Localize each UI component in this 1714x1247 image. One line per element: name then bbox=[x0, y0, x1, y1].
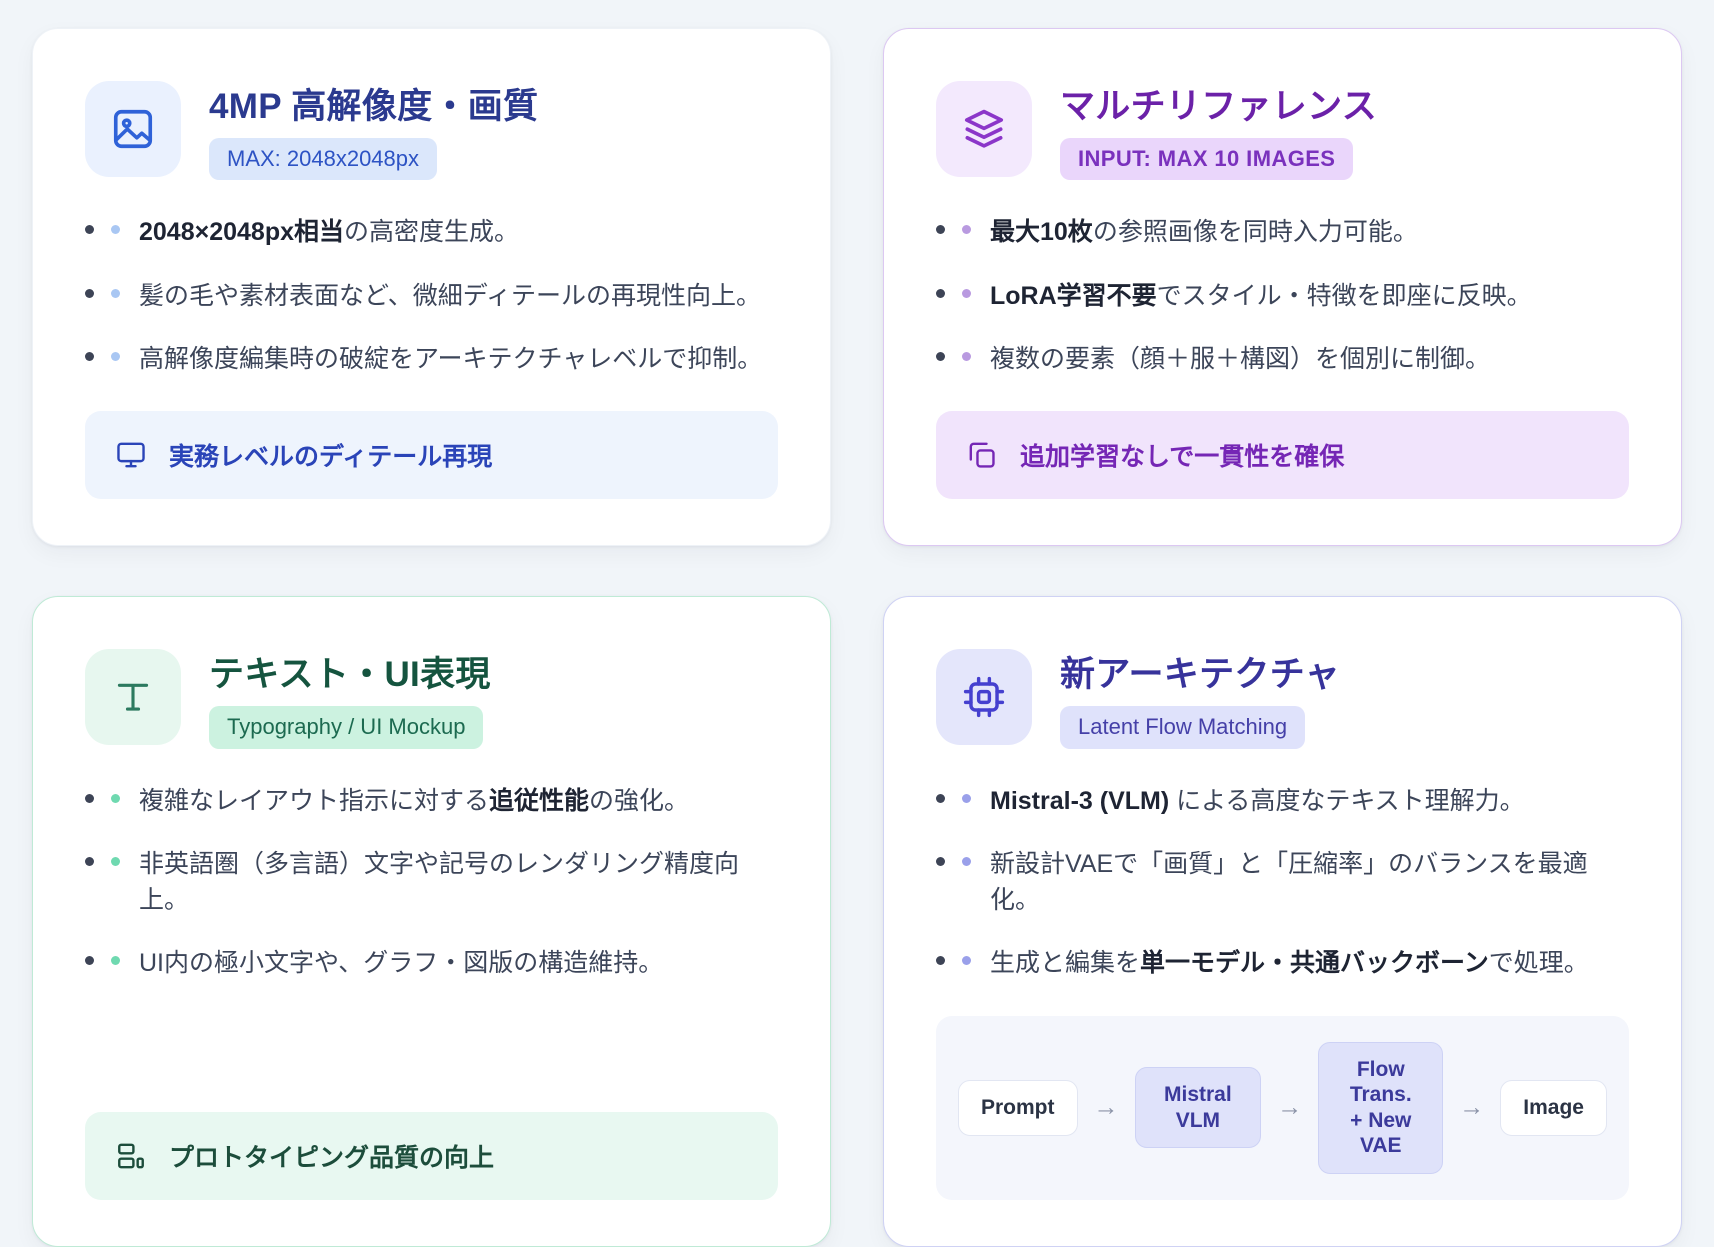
list-item: 新設計VAEで「画質」と「圧縮率」のバランスを最適化。 bbox=[936, 846, 1629, 919]
list-item-text: 最大10枚の参照画像を同時入力可能。 bbox=[990, 214, 1629, 250]
list-item: UI内の極小文字や、グラフ・図版の構造維持。 bbox=[85, 945, 778, 981]
list-item-text: 高解像度編集時の破綻をアーキテクチャレベルで抑制。 bbox=[139, 341, 778, 377]
status-badge: Latent Flow Matching bbox=[1060, 706, 1305, 748]
bullet-dot-inner bbox=[962, 289, 971, 298]
bullet-dot-inner bbox=[111, 956, 120, 965]
list-item: LoRA学習不要でスタイル・特徴を即座に反映。 bbox=[936, 278, 1629, 314]
feature-card-grid: 4MP 高解像度・画質 MAX: 2048x2048px 2048×2048px… bbox=[0, 0, 1714, 1246]
architecture-flow-diagram: Prompt → Mistral VLM → Flow Trans. + New… bbox=[936, 1016, 1629, 1200]
list-item-text: 複数の要素（顔＋服＋構図）を個別に制御。 bbox=[990, 341, 1629, 377]
bullet-dot-inner bbox=[962, 857, 971, 866]
card-architecture: 新アーキテクチャ Latent Flow Matching Mistral-3 … bbox=[883, 596, 1682, 1247]
page-title: マルチリファレンス bbox=[1060, 87, 1377, 126]
list-item: 高解像度編集時の破綻をアーキテクチャレベルで抑制。 bbox=[85, 341, 778, 377]
list-item-text: LoRA学習不要でスタイル・特徴を即座に反映。 bbox=[990, 278, 1629, 314]
page-title: テキスト・UI表現 bbox=[209, 655, 491, 694]
page-title: 4MP 高解像度・画質 bbox=[209, 87, 538, 126]
card-resolution: 4MP 高解像度・画質 MAX: 2048x2048px 2048×2048px… bbox=[32, 28, 831, 546]
feature-list: 複雑なレイアウト指示に対する追従性能の強化。 非英語圏（多言語）文字や記号のレン… bbox=[85, 783, 778, 982]
bullet-dot-inner bbox=[111, 352, 120, 361]
bullet-dot-outer bbox=[85, 857, 94, 866]
card-header: 新アーキテクチャ Latent Flow Matching bbox=[936, 649, 1629, 748]
status-badge: Typography / UI Mockup bbox=[209, 706, 483, 748]
list-item: 複数の要素（顔＋服＋構図）を個別に制御。 bbox=[936, 341, 1629, 377]
list-item-text: 2048×2048px相当の高密度生成。 bbox=[139, 214, 778, 250]
flow-node-flow-transformer: Flow Trans. + New VAE bbox=[1318, 1042, 1443, 1174]
card-header-text: マルチリファレンス INPUT: MAX 10 IMAGES bbox=[1060, 81, 1377, 180]
monitor-icon bbox=[115, 439, 147, 471]
card-multi-reference: マルチリファレンス INPUT: MAX 10 IMAGES 最大10枚の参照画… bbox=[883, 28, 1682, 546]
list-item: 最大10枚の参照画像を同時入力可能。 bbox=[936, 214, 1629, 250]
spacer bbox=[85, 377, 778, 411]
bullet-dot-inner bbox=[962, 225, 971, 234]
card-footer-banner: 追加学習なしで一貫性を確保 bbox=[936, 411, 1629, 499]
feature-list: Mistral-3 (VLM) による高度なテキスト理解力。 新設計VAEで「画… bbox=[936, 783, 1629, 982]
list-item: 髪の毛や素材表面など、微細ディテールの再現性向上。 bbox=[85, 278, 778, 314]
card-footer-banner: プロトタイピング品質の向上 bbox=[85, 1112, 778, 1200]
bullet-dot-outer bbox=[85, 794, 94, 803]
list-item: 非英語圏（多言語）文字や記号のレンダリング精度向上。 bbox=[85, 846, 778, 919]
spacer bbox=[936, 982, 1629, 1016]
bullet-dot-outer bbox=[85, 352, 94, 361]
bullet-dot-outer bbox=[85, 225, 94, 234]
arrow-right-icon: → bbox=[1277, 1095, 1302, 1120]
bullet-dot-outer bbox=[936, 956, 945, 965]
status-badge: MAX: 2048x2048px bbox=[209, 138, 437, 180]
bullet-dot-outer bbox=[936, 857, 945, 866]
bullet-dot-outer bbox=[85, 289, 94, 298]
bullet-dot-inner bbox=[962, 352, 971, 361]
list-item-text: 生成と編集を単一モデル・共通バックボーンで処理。 bbox=[990, 945, 1629, 981]
card-text-ui: テキスト・UI表現 Typography / UI Mockup 複雑なレイアウ… bbox=[32, 596, 831, 1247]
bullet-dot-inner bbox=[111, 225, 120, 234]
list-item-text: 複雑なレイアウト指示に対する追従性能の強化。 bbox=[139, 783, 778, 819]
bullet-dot-outer bbox=[936, 289, 945, 298]
card-header-text: 新アーキテクチャ Latent Flow Matching bbox=[1060, 649, 1340, 748]
bullet-dot-outer bbox=[936, 352, 945, 361]
list-item-text: UI内の極小文字や、グラフ・図版の構造維持。 bbox=[139, 945, 778, 981]
list-item: Mistral-3 (VLM) による高度なテキスト理解力。 bbox=[936, 783, 1629, 819]
card-header: 4MP 高解像度・画質 MAX: 2048x2048px bbox=[85, 81, 778, 180]
bullet-dot-outer bbox=[85, 956, 94, 965]
list-item: 生成と編集を単一モデル・共通バックボーンで処理。 bbox=[936, 945, 1629, 981]
bullet-dot-inner bbox=[962, 956, 971, 965]
bullet-dot-outer bbox=[936, 225, 945, 234]
arrow-right-icon: → bbox=[1094, 1095, 1119, 1120]
card-footer-label: プロトタイピング品質の向上 bbox=[169, 1138, 494, 1174]
status-badge: INPUT: MAX 10 IMAGES bbox=[1060, 138, 1353, 180]
cpu-icon bbox=[936, 649, 1032, 745]
spacer bbox=[936, 377, 1629, 411]
flow-node-image: Image bbox=[1500, 1080, 1607, 1136]
feature-list: 2048×2048px相当の高密度生成。 髪の毛や素材表面など、微細ディテールの… bbox=[85, 214, 778, 377]
bullet-dot-inner bbox=[111, 857, 120, 866]
list-item-text: 非英語圏（多言語）文字や記号のレンダリング精度向上。 bbox=[139, 846, 778, 919]
list-item-text: 髪の毛や素材表面など、微細ディテールの再現性向上。 bbox=[139, 278, 778, 314]
layout-icon bbox=[115, 1140, 147, 1172]
flow-node-mistral-vlm: Mistral VLM bbox=[1135, 1067, 1262, 1148]
list-item: 複雑なレイアウト指示に対する追従性能の強化。 bbox=[85, 783, 778, 819]
card-header: マルチリファレンス INPUT: MAX 10 IMAGES bbox=[936, 81, 1629, 180]
card-footer-label: 実務レベルのディテール再現 bbox=[169, 437, 492, 473]
bullet-dot-outer bbox=[936, 794, 945, 803]
card-footer-label: 追加学習なしで一貫性を確保 bbox=[1020, 437, 1344, 473]
flow-node-prompt: Prompt bbox=[958, 1080, 1078, 1136]
spacer bbox=[85, 982, 778, 1112]
card-header-text: 4MP 高解像度・画質 MAX: 2048x2048px bbox=[209, 81, 538, 180]
card-header: テキスト・UI表現 Typography / UI Mockup bbox=[85, 649, 778, 748]
page-title: 新アーキテクチャ bbox=[1060, 655, 1340, 694]
list-item-text: Mistral-3 (VLM) による高度なテキスト理解力。 bbox=[990, 783, 1629, 819]
list-item-text: 新設計VAEで「画質」と「圧縮率」のバランスを最適化。 bbox=[990, 846, 1629, 919]
bullet-dot-inner bbox=[111, 289, 120, 298]
bullet-dot-inner bbox=[962, 794, 971, 803]
feature-list: 最大10枚の参照画像を同時入力可能。 LoRA学習不要でスタイル・特徴を即座に反… bbox=[936, 214, 1629, 377]
bullet-dot-inner bbox=[111, 794, 120, 803]
type-icon bbox=[85, 649, 181, 745]
arrow-right-icon: → bbox=[1459, 1095, 1484, 1120]
list-item: 2048×2048px相当の高密度生成。 bbox=[85, 214, 778, 250]
image-icon bbox=[85, 81, 181, 177]
card-header-text: テキスト・UI表現 Typography / UI Mockup bbox=[209, 649, 491, 748]
copy-icon bbox=[966, 439, 998, 471]
card-footer-banner: 実務レベルのディテール再現 bbox=[85, 411, 778, 499]
layers-icon bbox=[936, 81, 1032, 177]
